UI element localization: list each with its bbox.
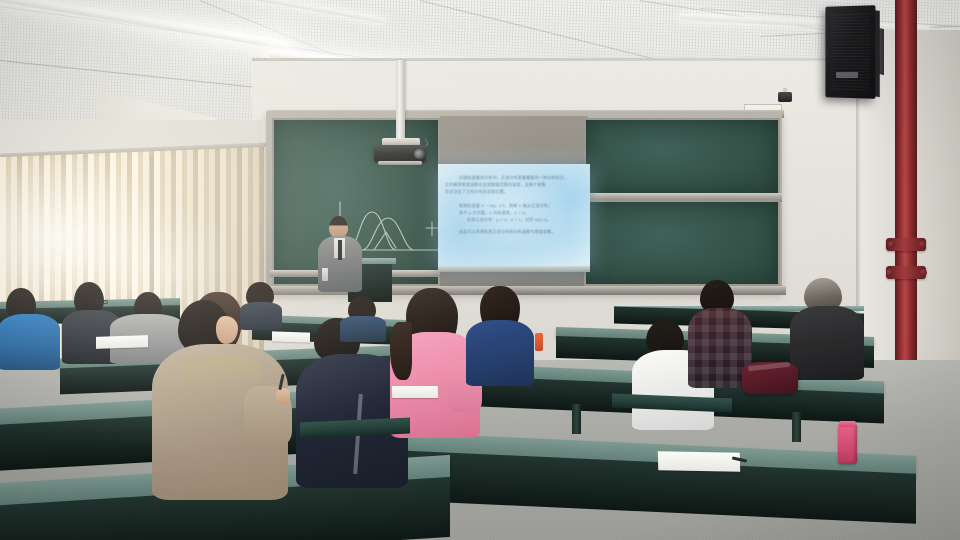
student-face: [216, 316, 238, 344]
screen-bottom-weight-bar: [438, 266, 590, 272]
student-blue-shirt: [0, 288, 62, 370]
slide-line: 其中 μ 为均值，σ 为标准差，σ > 0。: [445, 209, 583, 216]
slide-line: 标准正态分布：μ = 0，σ = 1，记作 N(0,1)。: [445, 216, 583, 223]
student-back-row-2: [340, 296, 386, 342]
projector-base: [378, 161, 422, 165]
speaker-brand-label: [836, 72, 858, 78]
slide-line: 它的概率密度函数在全部取值范围内连续，这两个参数: [445, 181, 583, 188]
pipe-bolt: [888, 241, 895, 248]
glasses-icon: [96, 300, 108, 304]
slide-line: 完全决定了它的分布形状和位置。: [445, 188, 583, 195]
water-bottle-on-ledge: [322, 268, 328, 281]
pipe-bolt: [886, 269, 893, 276]
slide-text-block: 在随机变量的分布中，正态分布是最重要的一种分布形式， 它的概率密度函数在全部取值…: [445, 174, 583, 262]
pipe-bolt: [919, 241, 926, 248]
pipe-bolt: [920, 269, 927, 276]
slide-line: 由此可以求得标准正态分布的分布函数与密度函数。: [445, 228, 583, 235]
lecturer-tie: [338, 240, 342, 260]
student-tan-coat: [152, 300, 292, 500]
student-hand: [276, 388, 290, 404]
slide-line: 若随机变量 X ~ N(μ, σ²)，则称 X 服从正态分布；: [445, 202, 583, 209]
lecturer-head: [329, 216, 348, 238]
classroom-photo: 在随机变量的分布中，正态分布是最重要的一种分布形式， 它的概率密度函数在全部取值…: [0, 0, 960, 540]
person-torso: [790, 306, 864, 380]
student-blue-top: [466, 286, 536, 386]
orange-water-bottle: [535, 333, 543, 351]
desk-leg: [572, 404, 581, 434]
student-shoulder-highlight: [180, 356, 262, 392]
ceiling-wall-joint: [252, 58, 892, 61]
student-torso: [0, 314, 60, 370]
projector-mount-pole: [396, 60, 405, 142]
student-torso: [466, 320, 534, 386]
pink-water-bottle: [838, 424, 857, 464]
wall-sensor-icon: [778, 92, 792, 102]
blackboard-panel-right-lower: [584, 200, 780, 286]
projection-screen: 在随机变量的分布中，正态分布是最重要的一种分布形式， 它的概率密度函数在全部取值…: [438, 164, 590, 270]
paper-sheet: [392, 386, 438, 398]
slide-line: 在随机变量的分布中，正态分布是最重要的一种分布形式，: [445, 174, 583, 181]
desk-leg: [792, 412, 801, 442]
blackboard-panel-right-upper: [584, 118, 780, 196]
student-torso: [240, 302, 282, 330]
projector-lens-icon: [414, 149, 425, 159]
older-man-dark-coat: [790, 278, 866, 380]
student-torso: [340, 316, 386, 342]
bottle-cap: [839, 421, 856, 427]
speaker-grille: [831, 11, 869, 90]
paper-sheet: [272, 331, 310, 342]
student-hair-front: [390, 322, 412, 380]
paper-sheet: [658, 451, 740, 472]
student-back-row-1: [240, 282, 282, 330]
paper-sheet: [96, 335, 148, 349]
